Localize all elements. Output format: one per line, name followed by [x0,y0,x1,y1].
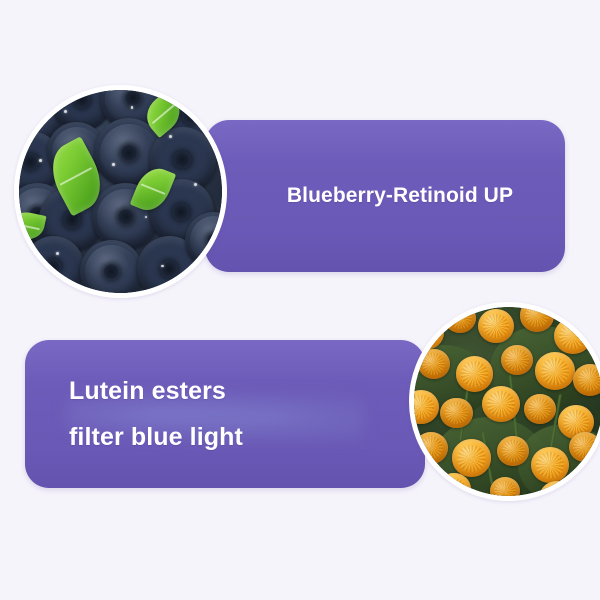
card-blueberry-label: Blueberry-Retinoid UP [249,180,551,212]
leaf-vein [151,104,174,124]
marigold-bloom [440,398,472,428]
infographic-canvas: Blueberry-Retinoid UP [0,0,600,600]
marigold-bloom [554,318,592,354]
berry [80,240,143,293]
marigold-photo-inner [414,307,600,496]
marigold-bloom [478,309,514,343]
water-droplet [131,106,134,109]
marigold-photo [409,302,600,501]
marigold-bloom [490,477,520,496]
marigold-bloom [535,352,575,390]
marigold-bloom [482,386,520,422]
water-droplet [169,135,172,138]
berry [23,236,84,293]
leaf-vein [141,184,166,195]
marigold-bloom [414,432,448,464]
marigold-bloom [418,349,450,379]
card-lutein-label-line1: Lutein esters [69,368,243,414]
water-droplet [39,159,42,162]
water-droplet [112,163,115,166]
card-blueberry-retinoid[interactable]: Blueberry-Retinoid UP [205,120,565,272]
marigold-bloom [569,432,600,462]
marigold-bloom [524,394,556,424]
marigold-bloom [456,356,494,392]
leaf-vein [60,167,92,185]
card-lutein-label-group: Lutein esters filter blue light [69,368,243,461]
blueberry-photo [14,85,227,298]
marigold-bloom [501,345,533,375]
marigold-bloom [573,364,600,396]
marigold-bloom [531,447,569,483]
card-lutein-esters[interactable]: Lutein esters filter blue light [25,340,425,488]
blueberry-photo-inner [19,90,222,293]
card-lutein-label-line2: filter blue light [69,414,243,460]
water-droplet [161,265,164,268]
marigold-bloom [497,436,529,466]
leaf-vein [19,222,40,230]
marigold-bloom [437,473,471,496]
